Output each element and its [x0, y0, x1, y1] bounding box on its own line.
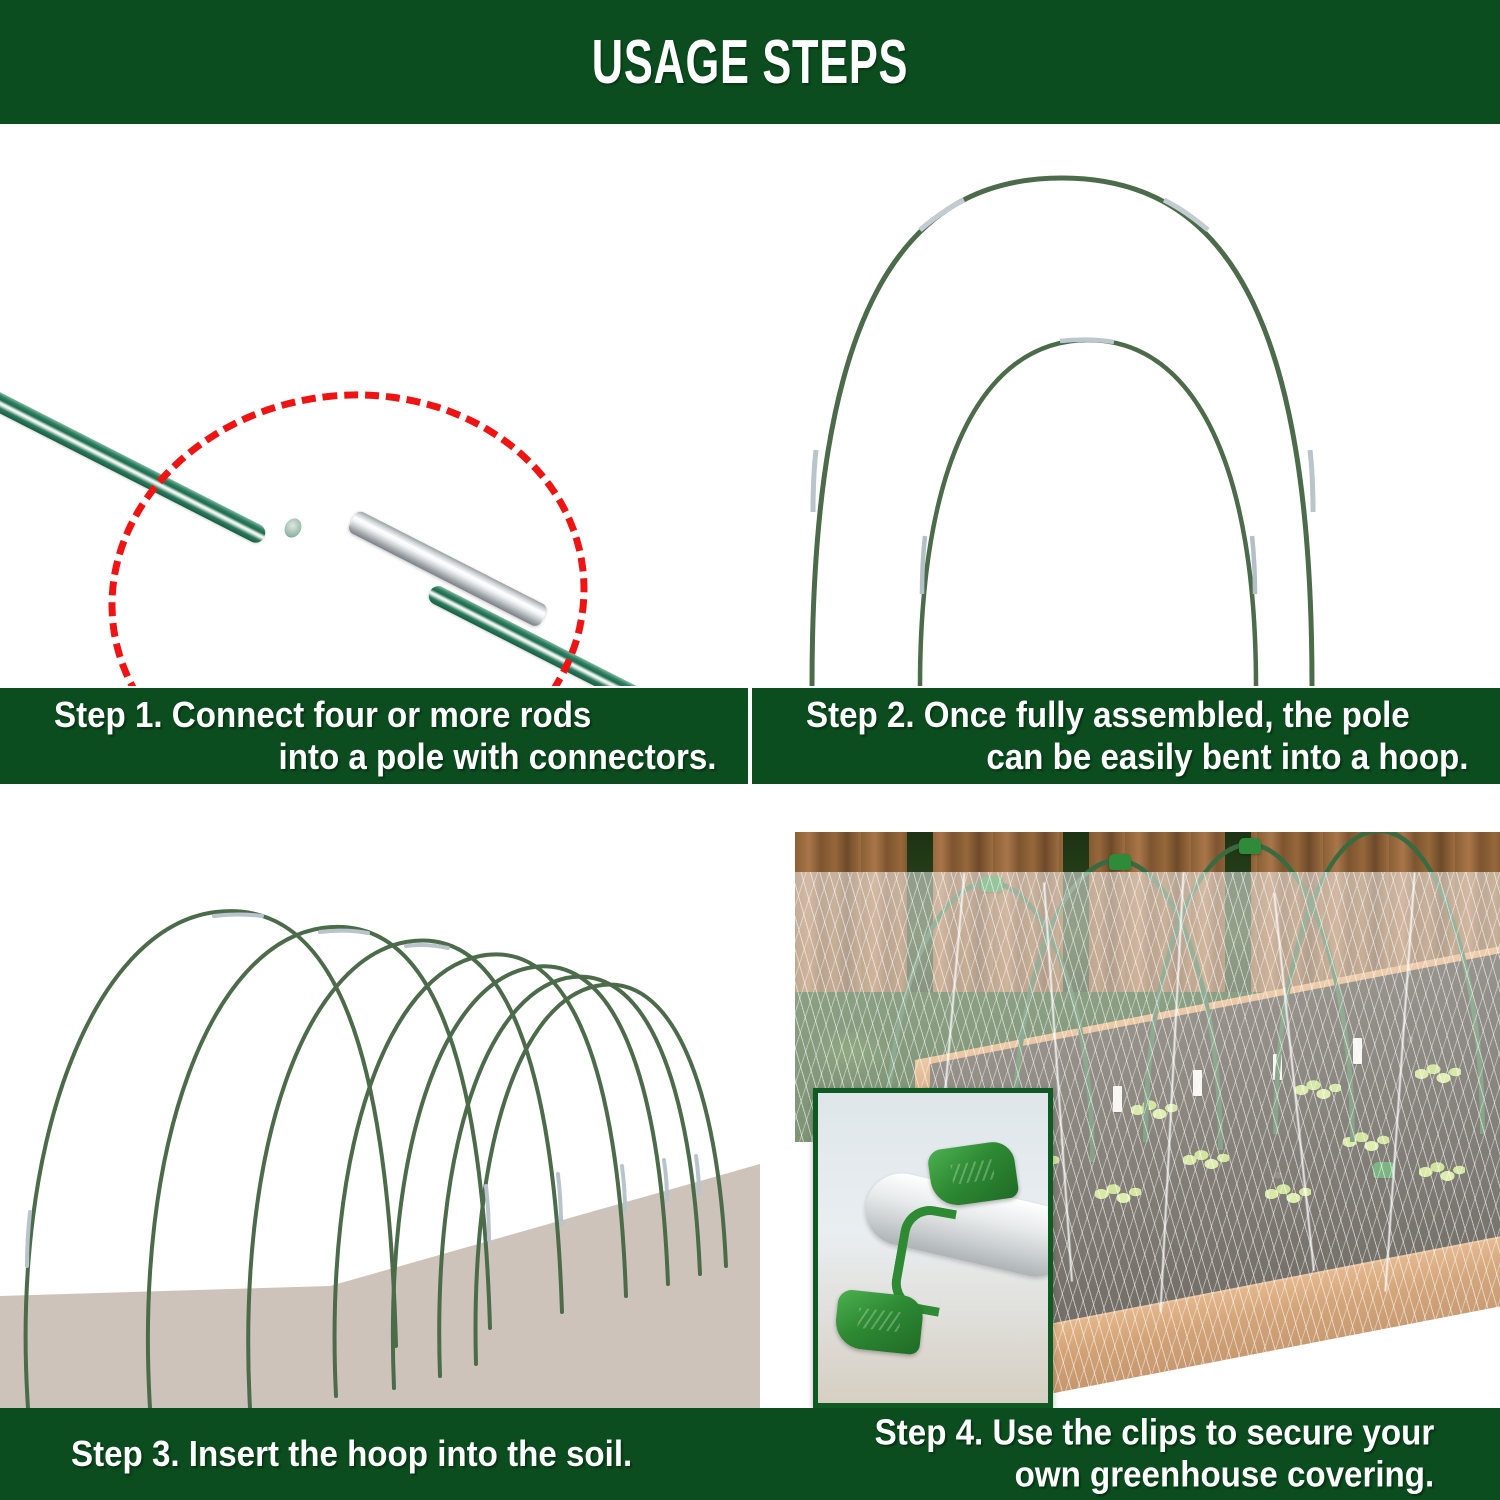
page-title: USAGE STEPS	[592, 27, 908, 98]
hoop-clip	[1373, 1162, 1395, 1178]
hoop-inner	[920, 340, 1256, 686]
connector-mark-inner-top	[1060, 340, 1114, 342]
hoop-tunnel-in-soil-diagram	[0, 836, 760, 1408]
connector-mark-outer-left-top	[920, 200, 964, 230]
bottom-caption-band: Step 3. Insert the hoop into the soil. S…	[0, 1408, 1500, 1500]
connector-mark-hoop0-top	[214, 915, 262, 917]
step1-illustration-panel	[0, 130, 748, 686]
seedling-row-item	[1265, 1184, 1311, 1204]
red-dashed-highlight-ellipse	[85, 364, 611, 686]
clip-closeup-inset	[813, 1088, 1053, 1408]
step2-illustration-panel	[752, 130, 1500, 686]
connector-mark-hoop2-right	[558, 1174, 561, 1224]
step4-caption-line2: own greenhouse covering.	[874, 1454, 1434, 1496]
garden-bed-photo	[795, 832, 1500, 1408]
step3-caption-group: Step 3. Insert the hoop into the soil.	[71, 1433, 681, 1475]
soil-ground-plane	[0, 1164, 760, 1408]
step1-caption-line2: into a pole with connectors.	[82, 736, 722, 778]
seedling-row-item	[1095, 1184, 1141, 1204]
hoop-outer	[812, 178, 1312, 686]
connector-mark-hoop1-top	[320, 931, 368, 933]
hoop-clip	[1109, 854, 1131, 870]
step2-caption-line1: Step 2. Once fully assembled, the pole	[806, 694, 1421, 736]
connector-mark-outer-right-top	[1164, 200, 1208, 230]
green-clip-lower	[833, 1289, 925, 1356]
connector-mark-hoop2-top	[406, 945, 448, 948]
connector-mark-outer-right-low	[1310, 450, 1313, 512]
step1-caption-band: Step 1. Connect four or more rods into a…	[0, 688, 748, 784]
hoop-clip	[981, 876, 1003, 892]
nested-hoops-diagram	[752, 130, 1500, 686]
step4-caption-line1: Step 4. Use the clips to secure your	[874, 1412, 1434, 1454]
step4-photo-panel	[795, 832, 1500, 1408]
step2-caption-line2: can be easily bent into a hoop.	[834, 736, 1474, 778]
connector-mark-outer-left-low	[813, 450, 816, 512]
step2-caption-band: Step 2. Once fully assembled, the pole c…	[752, 688, 1500, 784]
step1-caption-line1: Step 1. Connect four or more rods	[54, 694, 669, 736]
green-clip-upper	[926, 1139, 1019, 1208]
step4-caption-group: Step 4. Use the clips to secure your own…	[826, 1412, 1434, 1497]
seedling-row-item	[1419, 1162, 1465, 1182]
header-banner: USAGE STEPS	[0, 0, 1500, 124]
step3-caption-line1: Step 3. Insert the hoop into the soil.	[71, 1433, 632, 1475]
seedling-row-item	[1183, 1150, 1229, 1170]
hoop-clip	[1239, 838, 1261, 854]
step3-illustration-panel	[0, 836, 760, 1408]
